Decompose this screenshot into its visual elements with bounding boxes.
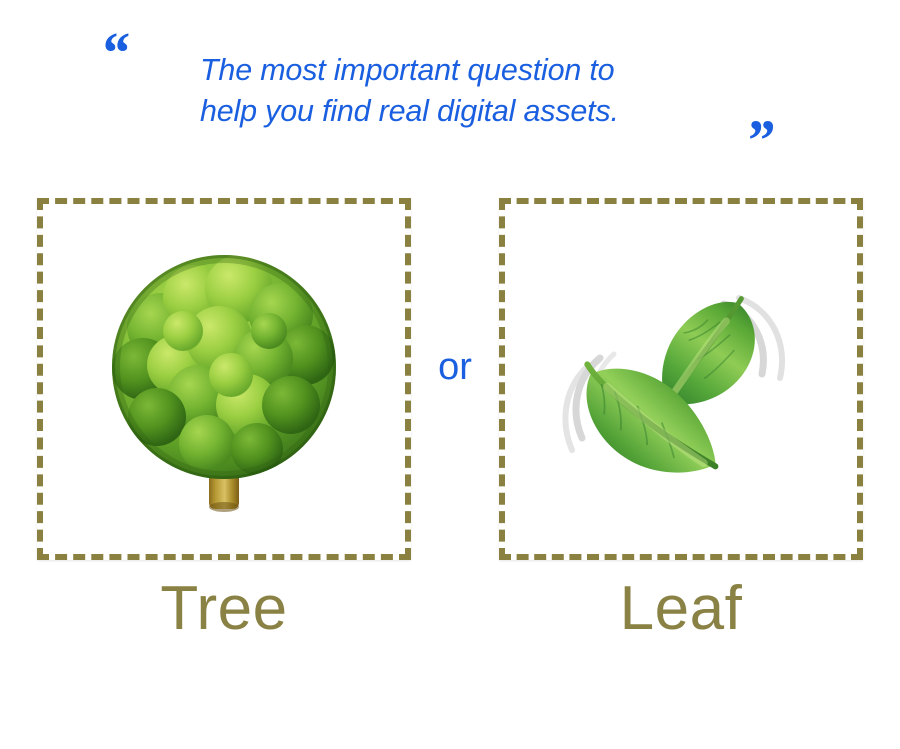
option-frame-leaf[interactable]: [499, 198, 863, 560]
conjunction-label: or: [410, 348, 500, 386]
option-label-tree: Tree: [37, 578, 411, 640]
option-frame-tree[interactable]: [37, 198, 411, 560]
option-label-leaf: Leaf: [499, 578, 863, 640]
slide-canvas: “ The most important question to help yo…: [0, 0, 900, 749]
